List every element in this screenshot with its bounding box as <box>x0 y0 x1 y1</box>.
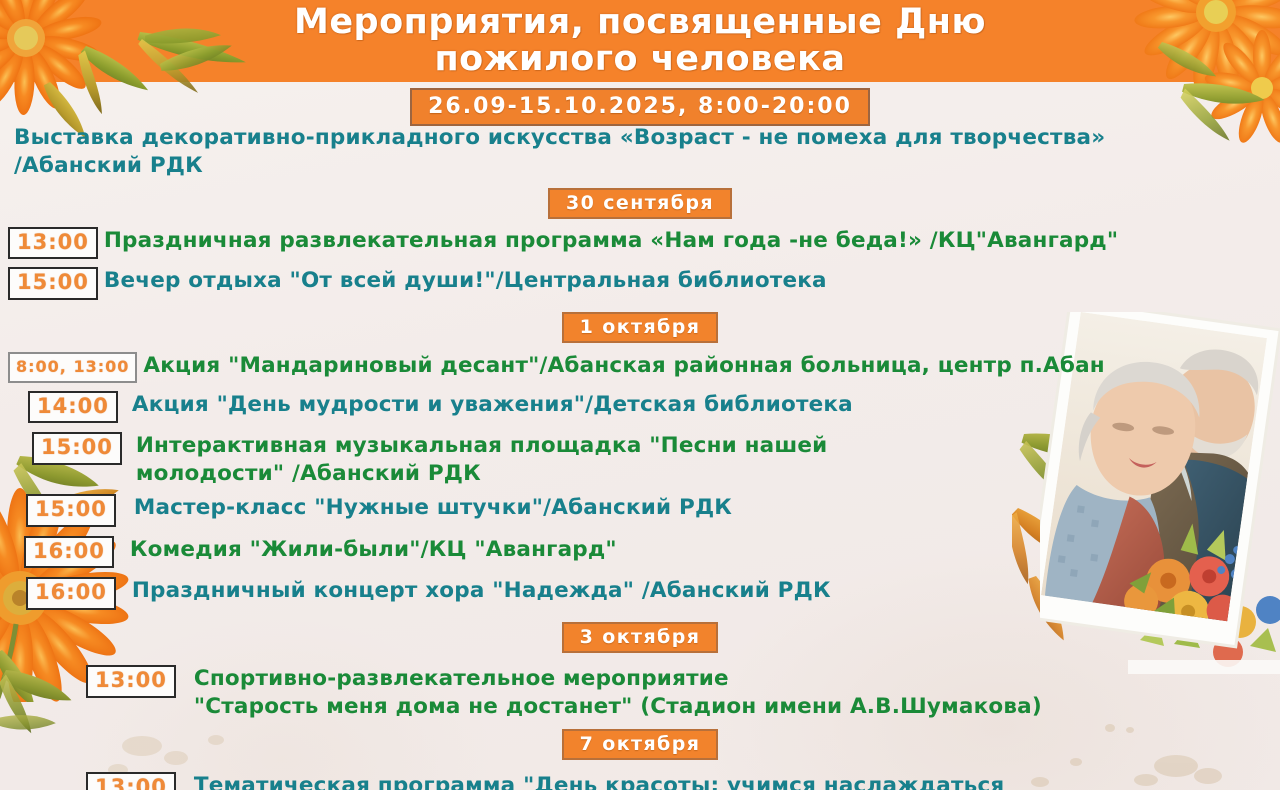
event-row: 13:00 Спортивно-развлекательное мероприя… <box>0 665 1280 721</box>
event-title-line-1: Тематическая программа "День красоты: уч… <box>194 773 1005 790</box>
event-title: Спортивно-развлекательное мероприятие "С… <box>176 665 1042 721</box>
event-title: Акция "День мудрости и уважения"/Детская… <box>118 391 853 419</box>
event-time-badge: 15:00 <box>32 432 122 465</box>
day-badge-3: 7 октября <box>562 729 719 760</box>
intro-block: Выставка декоративно-прикладного искусст… <box>0 124 1280 180</box>
event-title-line-1: Интерактивная музыкальная площадка "Песн… <box>136 433 828 458</box>
event-title: Акция "Мандариновый десант"/Абанская рай… <box>137 352 1104 380</box>
page-title: Мероприятия, посвященные Дню пожилого че… <box>0 0 1280 82</box>
day-header: 30 сентября <box>0 188 1280 219</box>
schedule-content: Выставка декоративно-прикладного искусст… <box>0 124 1280 790</box>
event-title-line-2: "Старость меня дома не достанет" (Стадио… <box>194 693 1042 721</box>
event-title: Интерактивная музыкальная площадка "Песн… <box>122 432 828 488</box>
event-row: 16:00 Праздничный концерт хора "Надежда"… <box>0 577 1280 610</box>
event-time-badge: 8:00, 13:00 <box>8 352 137 383</box>
event-title: Тематическая программа "День красоты: уч… <box>176 772 1005 790</box>
day-badge-0: 30 сентября <box>548 188 732 219</box>
title-line-2: пожилого человека <box>435 41 846 78</box>
event-row: 8:00, 13:00 Акция "Мандариновый десант"/… <box>0 352 1280 383</box>
event-time-badge: 13:00 <box>86 772 176 790</box>
title-line-1: Мероприятия, посвященные Дню <box>294 4 986 41</box>
day-badge-2: 3 октября <box>562 622 719 653</box>
event-title-line-1: Спортивно-развлекательное мероприятие <box>194 666 729 691</box>
event-title: Вечер отдыха "От всей души!"/Центральная… <box>98 267 827 295</box>
event-row: 16:00 Комедия "Жили-были"/КЦ "Авангард" <box>0 536 1280 569</box>
event-title: Мастер-класс "Нужные штучки"/Абанский РД… <box>116 494 732 522</box>
event-title: Праздничный концерт хора "Надежда" /Абан… <box>116 577 831 605</box>
day-header: 1 октября <box>0 312 1280 343</box>
intro-line-1: Выставка декоративно-прикладного искусст… <box>8 124 1280 152</box>
event-time-badge: 15:00 <box>8 267 98 300</box>
event-row: 14:00 Акция "День мудрости и уважения"/Д… <box>0 391 1280 424</box>
day-header: 7 октября <box>0 729 1280 760</box>
event-row: 13:00 Тематическая программа "День красо… <box>0 772 1280 790</box>
event-time-badge: 15:00 <box>26 494 116 527</box>
event-row: 13:00 Праздничная развлекательная програ… <box>0 227 1280 260</box>
event-time-badge: 13:00 <box>86 665 176 698</box>
event-title-line-2: молодости" /Абанский РДК <box>136 460 828 488</box>
event-time-badge: 16:00 <box>26 577 116 610</box>
intro-line-2: /Абанский РДК <box>8 152 1280 180</box>
event-title: Праздничная развлекательная программа «Н… <box>98 227 1118 255</box>
poster-root: Мероприятия, посвященные Дню пожилого че… <box>0 0 1280 790</box>
event-title: Комедия "Жили-были"/КЦ "Авангард" <box>114 536 617 564</box>
day-badge-1: 1 октября <box>562 312 719 343</box>
event-row: 15:00 Мастер-класс "Нужные штучки"/Абанс… <box>0 494 1280 527</box>
event-time-badge: 14:00 <box>28 391 118 424</box>
event-time-badge: 16:00 <box>24 536 114 569</box>
event-row: 15:00 Вечер отдыха "От всей души!"/Центр… <box>0 267 1280 300</box>
day-header: 3 октября <box>0 622 1280 653</box>
event-time-badge: 13:00 <box>8 227 98 260</box>
date-range-container: 26.09-15.10.2025, 8:00-20:00 <box>0 88 1280 126</box>
date-range-badge: 26.09-15.10.2025, 8:00-20:00 <box>410 88 870 126</box>
event-row: 15:00 Интерактивная музыкальная площадка… <box>0 432 1280 488</box>
